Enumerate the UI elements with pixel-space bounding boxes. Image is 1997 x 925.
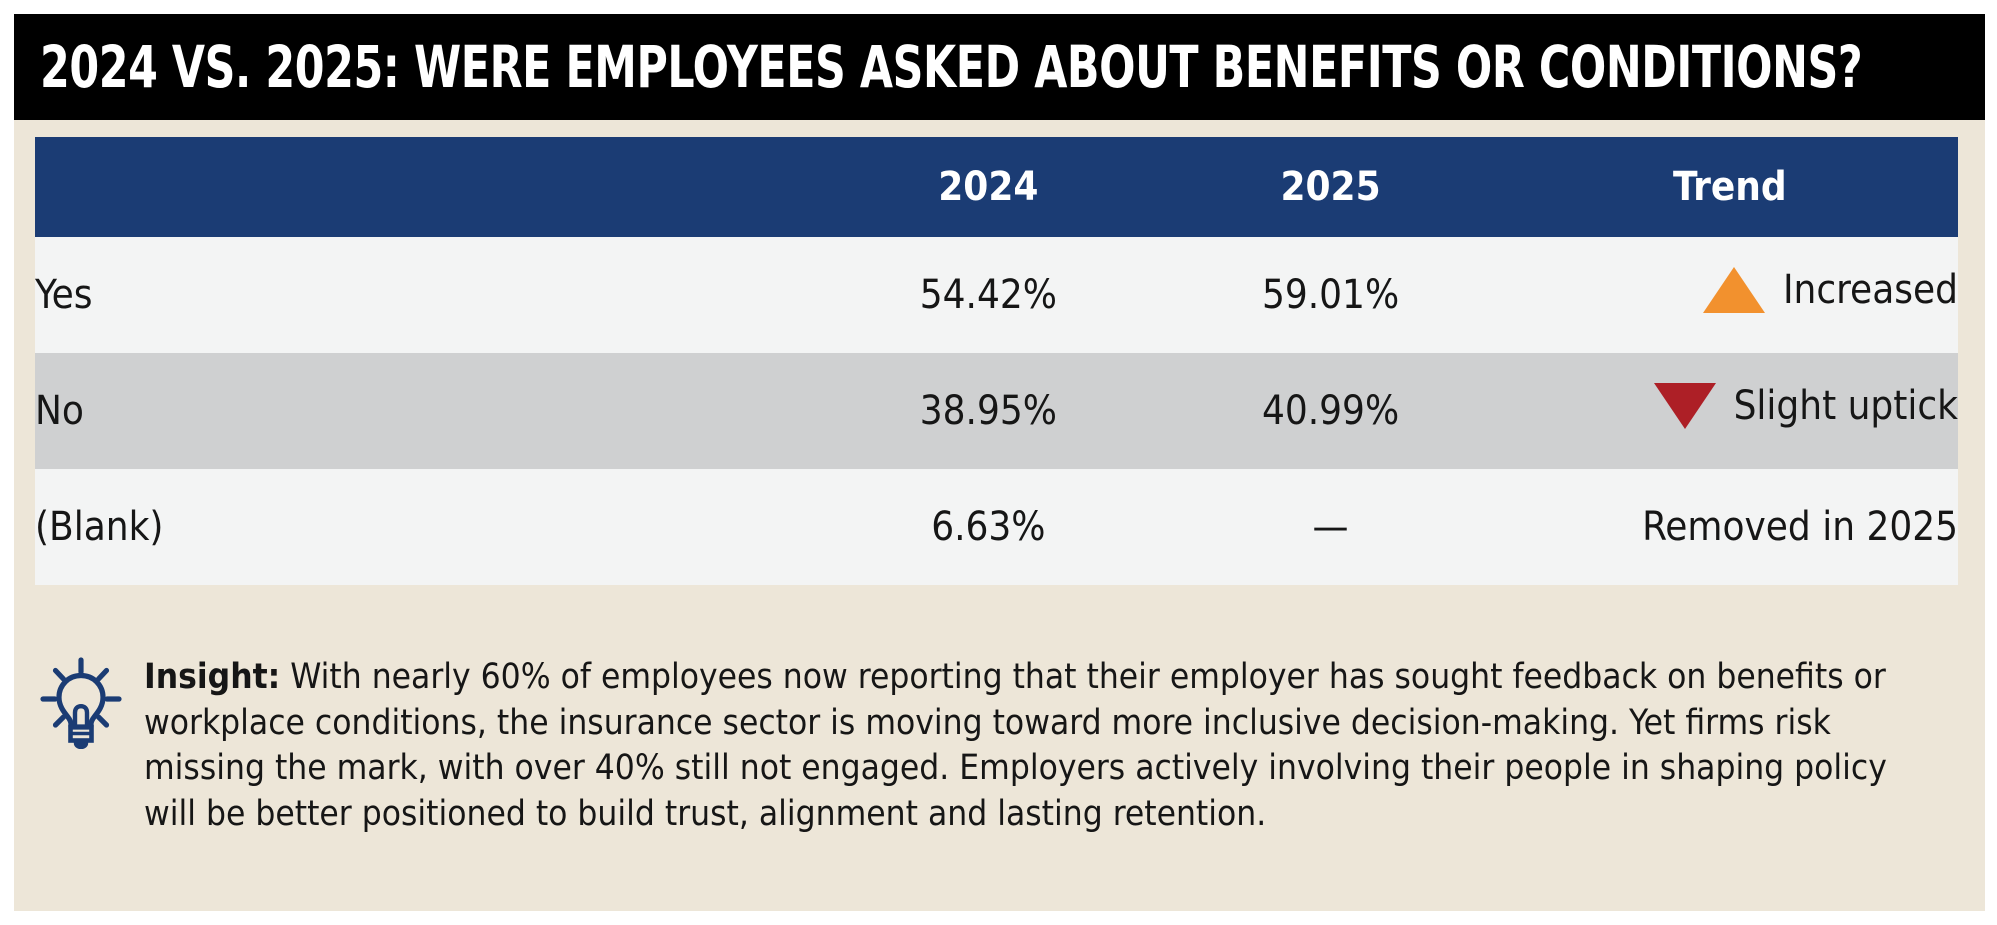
table-body: Yes 54.42% 59.01% Increased No 38.95% — [35, 237, 1958, 585]
cell-no-2025: 40.99% — [1159, 353, 1501, 469]
content-panel: 2024 2025 Trend Yes 54.42% 59.01% Incr — [14, 120, 1985, 911]
table-row: Yes 54.42% 59.01% Increased — [35, 237, 1958, 353]
trend-group: Increased — [1703, 267, 1958, 313]
lightbulb-icon — [38, 657, 124, 749]
trend-label: Slight uptick — [1734, 383, 1958, 429]
comparison-table-wrapper: 2024 2025 Trend Yes 54.42% 59.01% Incr — [35, 137, 1958, 585]
cell-no-trend: Slight uptick — [1502, 353, 1958, 469]
column-header-2025: 2025 — [1159, 137, 1501, 237]
insight-text: Insight: With nearly 60% of employees no… — [144, 655, 1904, 837]
trend-label: Removed in 2025 — [1642, 504, 1958, 550]
column-header-category — [35, 137, 817, 237]
trend-label: Increased — [1783, 267, 1958, 313]
row-label-yes: Yes — [35, 237, 817, 353]
column-header-2024: 2024 — [817, 137, 1159, 237]
table-row: (Blank) 6.63% — Removed in 2025 — [35, 469, 1958, 585]
cell-blank-2024: 6.63% — [817, 469, 1159, 585]
page-title: 2024 VS. 2025: WERE EMPLOYEES ASKED ABOU… — [40, 38, 1862, 96]
trend-group: Removed in 2025 — [1642, 504, 1958, 550]
triangle-down-icon — [1654, 383, 1716, 429]
row-label-no: No — [35, 353, 817, 469]
cell-yes-trend: Increased — [1502, 237, 1958, 353]
trend-group: Slight uptick — [1654, 383, 1958, 429]
insight-body: With nearly 60% of employees now reporti… — [144, 657, 1887, 834]
table-header: 2024 2025 Trend — [35, 137, 1958, 237]
infographic-page: 2024 VS. 2025: WERE EMPLOYEES ASKED ABOU… — [0, 0, 1997, 925]
cell-no-2024: 38.95% — [817, 353, 1159, 469]
insight-label: Insight: — [144, 657, 280, 697]
cell-yes-2024: 54.42% — [817, 237, 1159, 353]
column-header-trend: Trend — [1502, 137, 1958, 237]
cell-yes-2025: 59.01% — [1159, 237, 1501, 353]
table-row: No 38.95% 40.99% Slight uptick — [35, 353, 1958, 469]
table-header-row: 2024 2025 Trend — [35, 137, 1958, 237]
row-label-blank: (Blank) — [35, 469, 817, 585]
cell-blank-trend: Removed in 2025 — [1502, 469, 1958, 585]
comparison-table: 2024 2025 Trend Yes 54.42% 59.01% Incr — [35, 137, 1958, 585]
insight-block: Insight: With nearly 60% of employees no… — [38, 655, 1938, 837]
title-banner: 2024 VS. 2025: WERE EMPLOYEES ASKED ABOU… — [14, 14, 1985, 120]
triangle-up-icon — [1703, 267, 1765, 313]
cell-blank-2025: — — [1159, 469, 1501, 585]
